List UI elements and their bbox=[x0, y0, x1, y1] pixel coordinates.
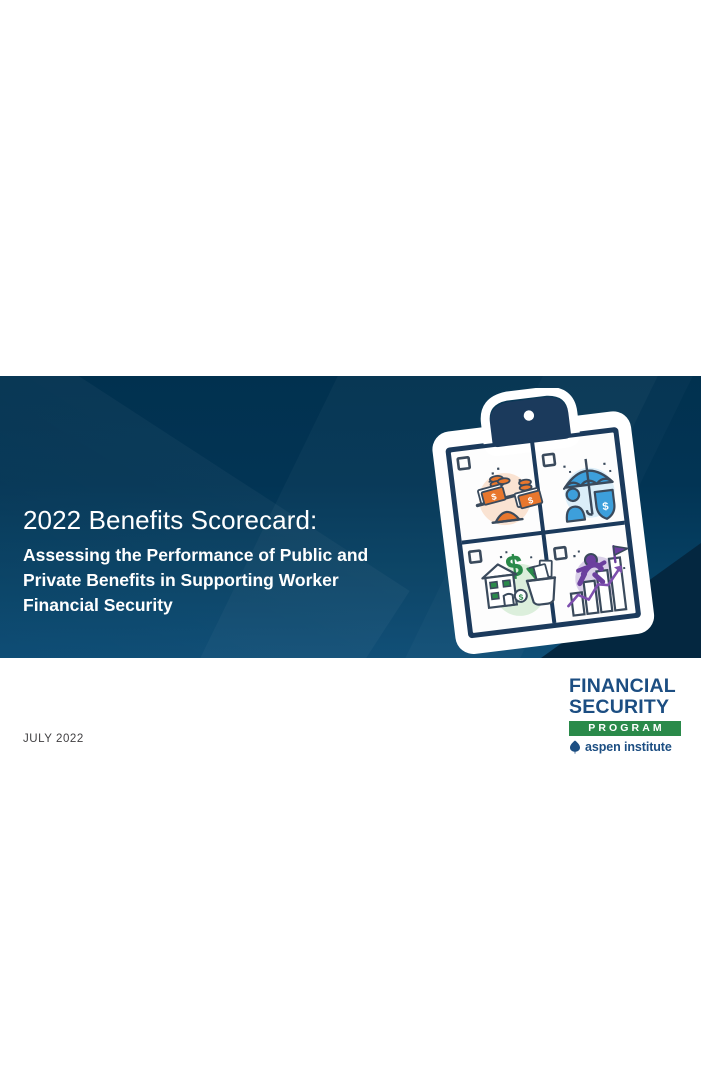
logo-program-text: PROGRAM bbox=[585, 722, 665, 734]
aspen-financial-security-program-logo: FINANCIAL SECURITY PROGRAM aspen institu… bbox=[569, 676, 681, 754]
logo-line-security: SECURITY bbox=[569, 697, 681, 718]
publication-date: JULY 2022 bbox=[23, 733, 84, 745]
cover-title-block: 2022 Benefits Scorecard: Assessing the P… bbox=[23, 505, 443, 619]
clipboard-illustration: $ $ bbox=[428, 388, 678, 656]
page-subtitle: Assessing the Performance of Public and … bbox=[23, 543, 418, 619]
logo-program-bar: PROGRAM bbox=[569, 721, 681, 736]
logo-org-name: aspen institute bbox=[585, 740, 672, 754]
logo-aspen-institute: aspen institute bbox=[569, 740, 681, 754]
page-title: 2022 Benefits Scorecard: bbox=[23, 505, 443, 537]
logo-line-financial: FINANCIAL bbox=[569, 676, 681, 697]
aspen-leaf-icon bbox=[569, 740, 581, 754]
